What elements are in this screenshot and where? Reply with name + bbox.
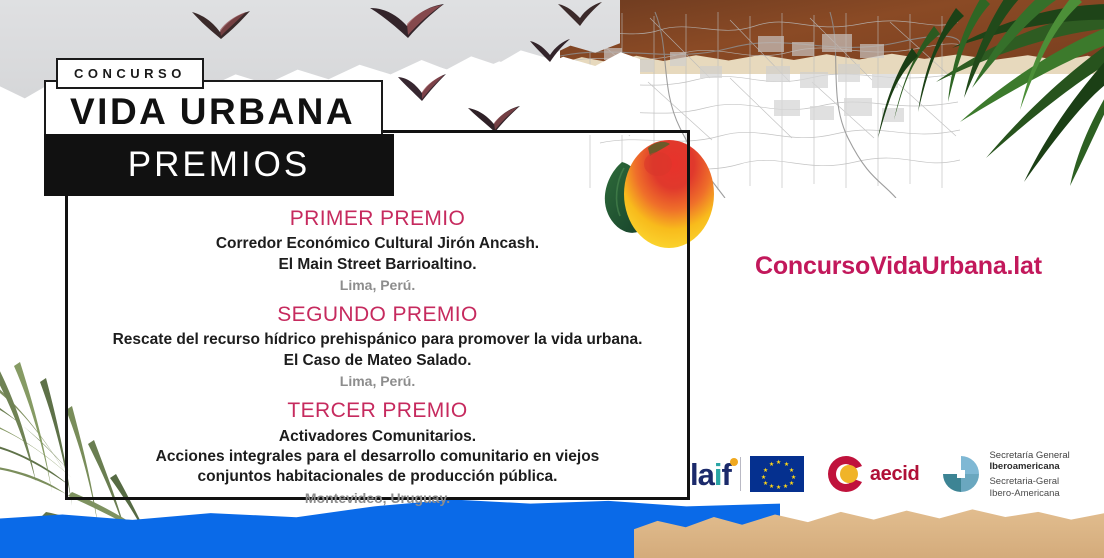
palm-fronds-top-right bbox=[874, 0, 1104, 186]
poster-canvas: CONCURSO VIDA URBANA PREMIOS PRIMER PREM… bbox=[0, 0, 1104, 558]
bird-icon bbox=[190, 8, 252, 42]
section-title: PREMIOS bbox=[128, 145, 310, 185]
prize-title: TERCER PREMIO bbox=[70, 398, 685, 424]
prize-line: conjuntos habitacionales de producción p… bbox=[70, 467, 685, 487]
prize-location: Montevideo, Uruguay. bbox=[70, 488, 685, 509]
aecid-wordmark: aecid bbox=[870, 463, 920, 486]
segib-line-2: Iberoamericana bbox=[989, 461, 1069, 472]
prize-line: El Caso de Mateo Salado. bbox=[70, 351, 685, 371]
segib-line-4: Ibero-Americana bbox=[989, 488, 1069, 499]
bird-icon bbox=[528, 38, 572, 64]
segib-wordmark: Secretaría General Iberoamericana Secret… bbox=[989, 450, 1069, 499]
prize-line: Corredor Económico Cultural Jirón Ancash… bbox=[70, 234, 685, 254]
prize-entry: PRIMER PREMIO Corredor Económico Cultura… bbox=[70, 206, 685, 296]
aecid-mark-icon bbox=[826, 454, 866, 494]
prize-title: PRIMER PREMIO bbox=[70, 206, 685, 232]
laif-wordmark: laif bbox=[690, 459, 731, 490]
segib-mark-icon bbox=[941, 454, 981, 494]
section-title-box: PREMIOS bbox=[44, 134, 394, 196]
sponsor-logos: laif ★ ★ ★ ★ ★ ★ ★ ★ ★ ★ ★ ★ bbox=[690, 450, 1070, 499]
page-title: VIDA URBANA bbox=[70, 91, 355, 132]
prize-line: Activadores Comunitarios. bbox=[70, 427, 685, 447]
prize-title: SEGUNDO PREMIO bbox=[70, 302, 685, 328]
prize-location: Lima, Perú. bbox=[70, 371, 685, 392]
laif-dot-icon bbox=[730, 458, 738, 466]
prize-line: Acciones integrales para el desarrollo c… bbox=[70, 447, 685, 467]
segib-logo: Secretaría General Iberoamericana Secret… bbox=[941, 450, 1069, 499]
prize-line: El Main Street Barrioaltino. bbox=[70, 255, 685, 275]
website-url[interactable]: ConcursoVidaUrbana.lat bbox=[755, 252, 1042, 281]
kicker-label: CONCURSO bbox=[74, 66, 186, 81]
prize-entry: TERCER PREMIO Activadores Comunitarios. … bbox=[70, 398, 685, 509]
prizes-list: PRIMER PREMIO Corredor Económico Cultura… bbox=[70, 206, 685, 515]
laif-part-la: la bbox=[690, 457, 714, 492]
segib-line-1: Secretaría General bbox=[989, 450, 1069, 461]
sandy-beach-decor bbox=[634, 494, 1104, 558]
bird-icon bbox=[396, 72, 448, 104]
segib-line-3: Secretaria-Geral bbox=[989, 476, 1069, 487]
prize-entry: SEGUNDO PREMIO Rescate del recurso hídri… bbox=[70, 302, 685, 392]
logo-divider bbox=[740, 457, 741, 491]
bird-icon bbox=[556, 0, 604, 28]
bird-icon bbox=[368, 2, 446, 42]
kicker-badge: CONCURSO bbox=[56, 58, 204, 89]
prize-line: Rescate del recurso hídrico prehispánico… bbox=[70, 330, 685, 350]
aecid-logo: aecid bbox=[826, 454, 920, 494]
laif-logo: laif ★ ★ ★ ★ ★ ★ ★ ★ ★ ★ ★ ★ bbox=[690, 456, 804, 492]
prize-location: Lima, Perú. bbox=[70, 275, 685, 296]
european-union-flag-icon: ★ ★ ★ ★ ★ ★ ★ ★ ★ ★ ★ ★ bbox=[750, 456, 804, 492]
